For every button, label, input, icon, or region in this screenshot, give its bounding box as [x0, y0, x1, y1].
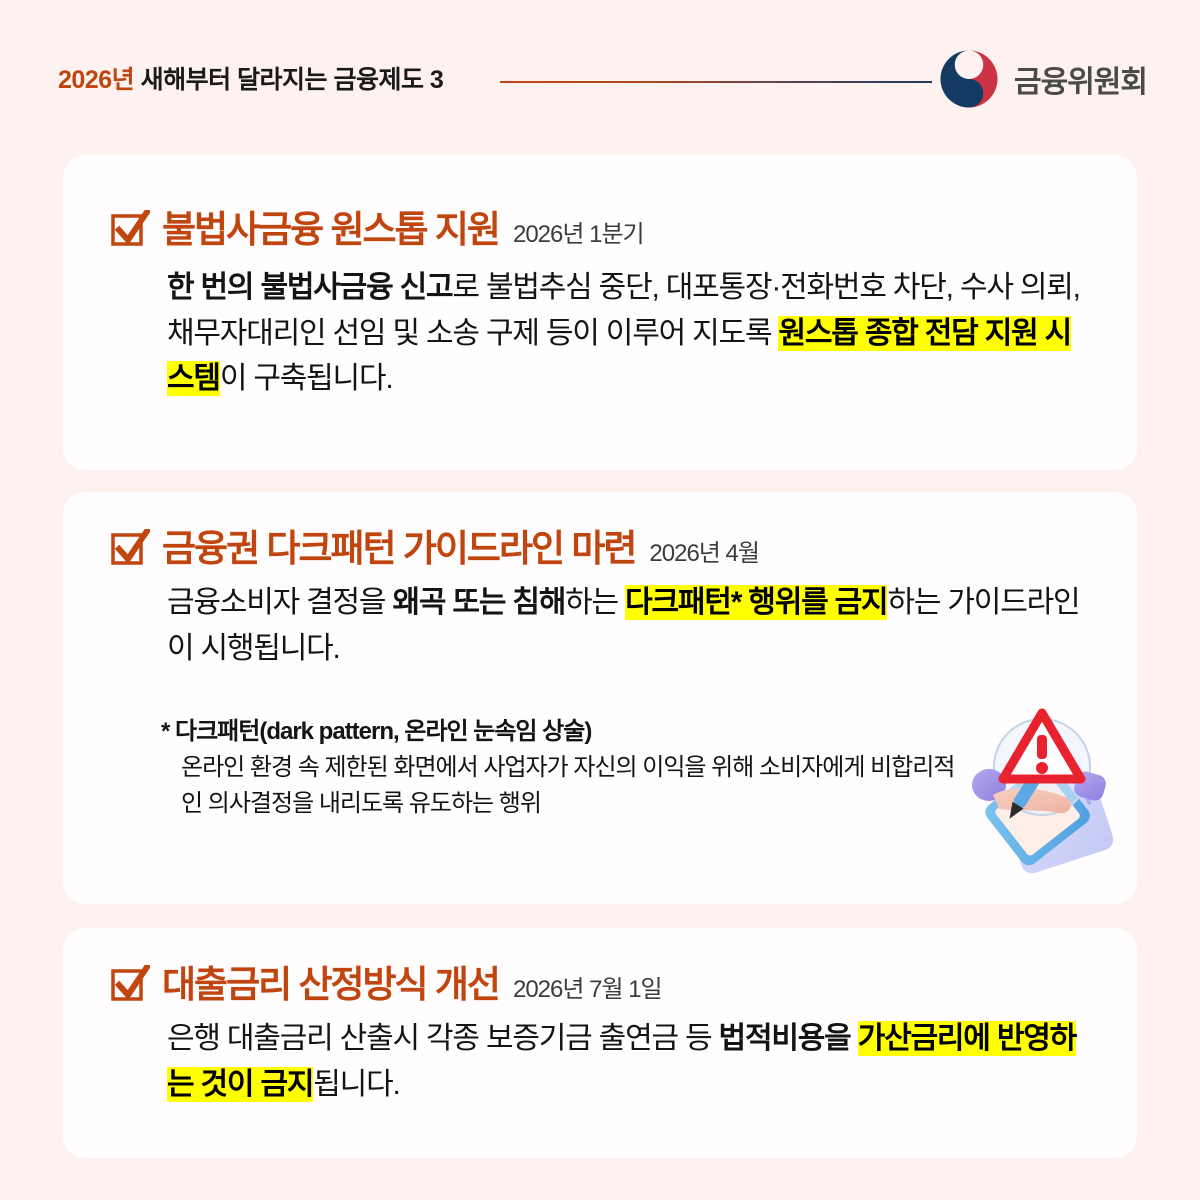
card-body-text: 은행 대출금리 산출시 각종 보증기금 출연금 등 법적비용을 가산금리에 반영…	[167, 1016, 1097, 1107]
card-title: 금융권 다크패턴 가이드라인 마련	[162, 518, 635, 572]
card-footnote: * 다크패턴(dark pattern, 온라인 눈속임 상술) 온라인 환경 …	[161, 714, 967, 822]
card-heading: 금융권 다크패턴 가이드라인 마련 2026년 4월	[110, 518, 759, 572]
card-date-badge: 2026년 4월	[649, 533, 759, 568]
taegeuk-icon	[938, 48, 1000, 110]
header-divider-line	[500, 81, 932, 83]
text-run-bold: 한 번의 불법사금융 신고	[167, 271, 452, 304]
card-body-text: 한 번의 불법사금융 신고로 불법추심 중단, 대포통장·전화번호 차단, 수사…	[167, 265, 1097, 402]
policy-card-illegal-finance: 불법사금융 원스톱 지원 2026년 1분기 한 번의 불법사금융 신고로 불법…	[63, 155, 1137, 470]
policy-card-dark-pattern: 금융권 다크패턴 가이드라인 마련 2026년 4월 금융소비자 결정을 왜곡 …	[63, 492, 1137, 904]
page-title-year: 2026년	[58, 66, 134, 94]
fsc-logo-text: 금융위원회	[1014, 57, 1147, 101]
text-run-normal: 됩니다.	[313, 1068, 399, 1101]
text-run-normal: 하는	[565, 586, 625, 619]
card-heading: 불법사금융 원스톱 지원 2026년 1분기	[110, 199, 644, 253]
card-heading: 대출금리 산정방식 개선 2026년 7월 1일	[110, 954, 662, 1008]
card-date-badge: 2026년 1분기	[513, 214, 644, 249]
checkbox-checked-icon	[110, 965, 150, 1003]
card-date-badge: 2026년 7월 1일	[513, 969, 662, 1004]
text-run-normal: 이 구축됩니다.	[220, 362, 393, 395]
footnote-term: * 다크패턴(dark pattern, 온라인 눈속임 상술)	[161, 714, 967, 750]
text-run-bold: 법적비용을	[719, 1022, 851, 1055]
card-title: 대출금리 산정방식 개선	[162, 954, 499, 1008]
text-run-normal: 은행 대출금리 산출시 각종 보증기금 출연금 등	[167, 1022, 719, 1055]
text-run-normal: 금융소비자 결정을	[167, 586, 392, 619]
tablet-pen-warning-illustration	[953, 697, 1131, 887]
page-title: 2026년 새해부터 달라지는 금융제도 3	[58, 60, 443, 96]
fsc-logo: 금융위원회	[938, 48, 1147, 110]
text-run-normal	[851, 1022, 858, 1055]
text-run-bold: 왜곡 또는 침해	[392, 586, 565, 619]
card-body-text: 금융소비자 결정을 왜곡 또는 침해하는 다크패턴* 행위를 금지하는 가이드라…	[167, 580, 1097, 671]
footnote-description: 온라인 환경 속 제한된 화면에서 사업자가 자신의 이익을 위해 소비자에게 …	[161, 750, 967, 822]
page-title-rest: 새해부터 달라지는 금융제도	[134, 66, 430, 94]
card-title: 불법사금융 원스톱 지원	[162, 199, 499, 253]
policy-card-loan-rate: 대출금리 산정방식 개선 2026년 7월 1일 은행 대출금리 산출시 각종 …	[63, 928, 1137, 1158]
checkbox-checked-icon	[110, 210, 150, 248]
page-header: 2026년 새해부터 달라지는 금융제도 3 금융위원회	[0, 0, 1200, 140]
page-title-number: 3	[430, 66, 443, 94]
checkbox-checked-icon	[110, 529, 150, 567]
text-run-highlight: 다크패턴* 행위를 금지	[625, 585, 887, 620]
